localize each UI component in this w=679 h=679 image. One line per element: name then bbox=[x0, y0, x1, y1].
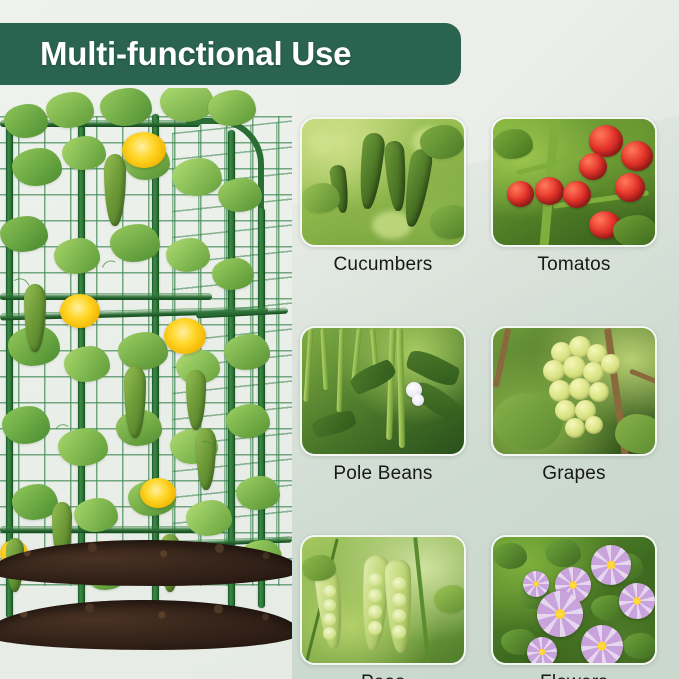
title-banner: Multi-functional Use bbox=[0, 23, 461, 85]
vine-leaf bbox=[226, 404, 270, 438]
vine-leaf bbox=[208, 90, 256, 126]
vine-leaf bbox=[118, 332, 168, 370]
use-case-label: Pole Beans bbox=[300, 463, 466, 485]
use-case-tomatos[interactable]: Tomatos bbox=[491, 117, 657, 276]
page-title: Multi-functional Use bbox=[40, 35, 351, 73]
pole-beans-on-vine-photo bbox=[302, 328, 464, 454]
use-case-row: Cucumbers bbox=[300, 117, 660, 276]
green-grape-cluster-photo bbox=[493, 328, 655, 454]
use-case-grid: Cucumbers bbox=[300, 117, 660, 679]
vine-leaf bbox=[62, 136, 106, 170]
use-case-grapes[interactable]: Grapes bbox=[491, 326, 657, 485]
use-case-pole-beans[interactable]: Pole Beans bbox=[300, 326, 466, 485]
use-case-label: Cucumbers bbox=[300, 254, 466, 276]
use-case-flowers[interactable]: Flowers bbox=[491, 535, 657, 679]
use-case-card[interactable] bbox=[300, 117, 466, 247]
vine-leaf bbox=[4, 104, 48, 138]
vine-leaf bbox=[186, 500, 232, 536]
vine-leaf bbox=[0, 216, 48, 252]
purple-clematis-flowers-photo bbox=[493, 537, 655, 663]
vine-leaf bbox=[166, 238, 210, 272]
use-case-label: Flowers bbox=[491, 672, 657, 679]
use-case-cucumbers[interactable]: Cucumbers bbox=[300, 117, 466, 276]
use-case-card[interactable] bbox=[491, 535, 657, 665]
vine-leaf bbox=[64, 346, 110, 382]
hero-trellis-photo bbox=[0, 88, 292, 679]
use-case-row: Pole Beans bbox=[300, 326, 660, 485]
vine-leaf bbox=[172, 158, 222, 196]
vine-leaf bbox=[218, 178, 262, 212]
vine-leaf bbox=[212, 258, 254, 290]
use-case-card[interactable] bbox=[491, 117, 657, 247]
vine-leaf bbox=[2, 406, 50, 444]
use-case-peas[interactable]: Peas bbox=[300, 535, 466, 679]
use-case-label: Peas bbox=[300, 672, 466, 679]
vine-leaf bbox=[224, 334, 270, 370]
vine-leaf bbox=[54, 238, 100, 274]
soil-row-back bbox=[0, 540, 292, 586]
vine-leaf bbox=[110, 224, 160, 262]
use-case-row: Peas bbox=[300, 535, 660, 679]
cucumber-blossom bbox=[122, 132, 166, 168]
vine-leaf bbox=[236, 476, 280, 510]
cucumber-blossom bbox=[164, 318, 206, 354]
vine-leaf bbox=[74, 498, 118, 532]
cucumbers-on-vine-photo bbox=[302, 119, 464, 245]
product-feature-graphic: Multi-functional Use bbox=[0, 0, 679, 679]
vine-leaf bbox=[46, 92, 94, 128]
use-case-card[interactable] bbox=[300, 535, 466, 665]
cucumber-blossom bbox=[60, 294, 100, 328]
use-case-label: Grapes bbox=[491, 463, 657, 485]
vine-leaf bbox=[12, 148, 62, 186]
use-case-card[interactable] bbox=[300, 326, 466, 456]
cucumber-blossom bbox=[140, 478, 176, 508]
use-case-label: Tomatos bbox=[491, 254, 657, 276]
pea-pods-on-vine-photo bbox=[302, 537, 464, 663]
vine-leaf bbox=[100, 88, 152, 126]
use-case-card[interactable] bbox=[491, 326, 657, 456]
red-tomatoes-on-vine-photo bbox=[493, 119, 655, 245]
